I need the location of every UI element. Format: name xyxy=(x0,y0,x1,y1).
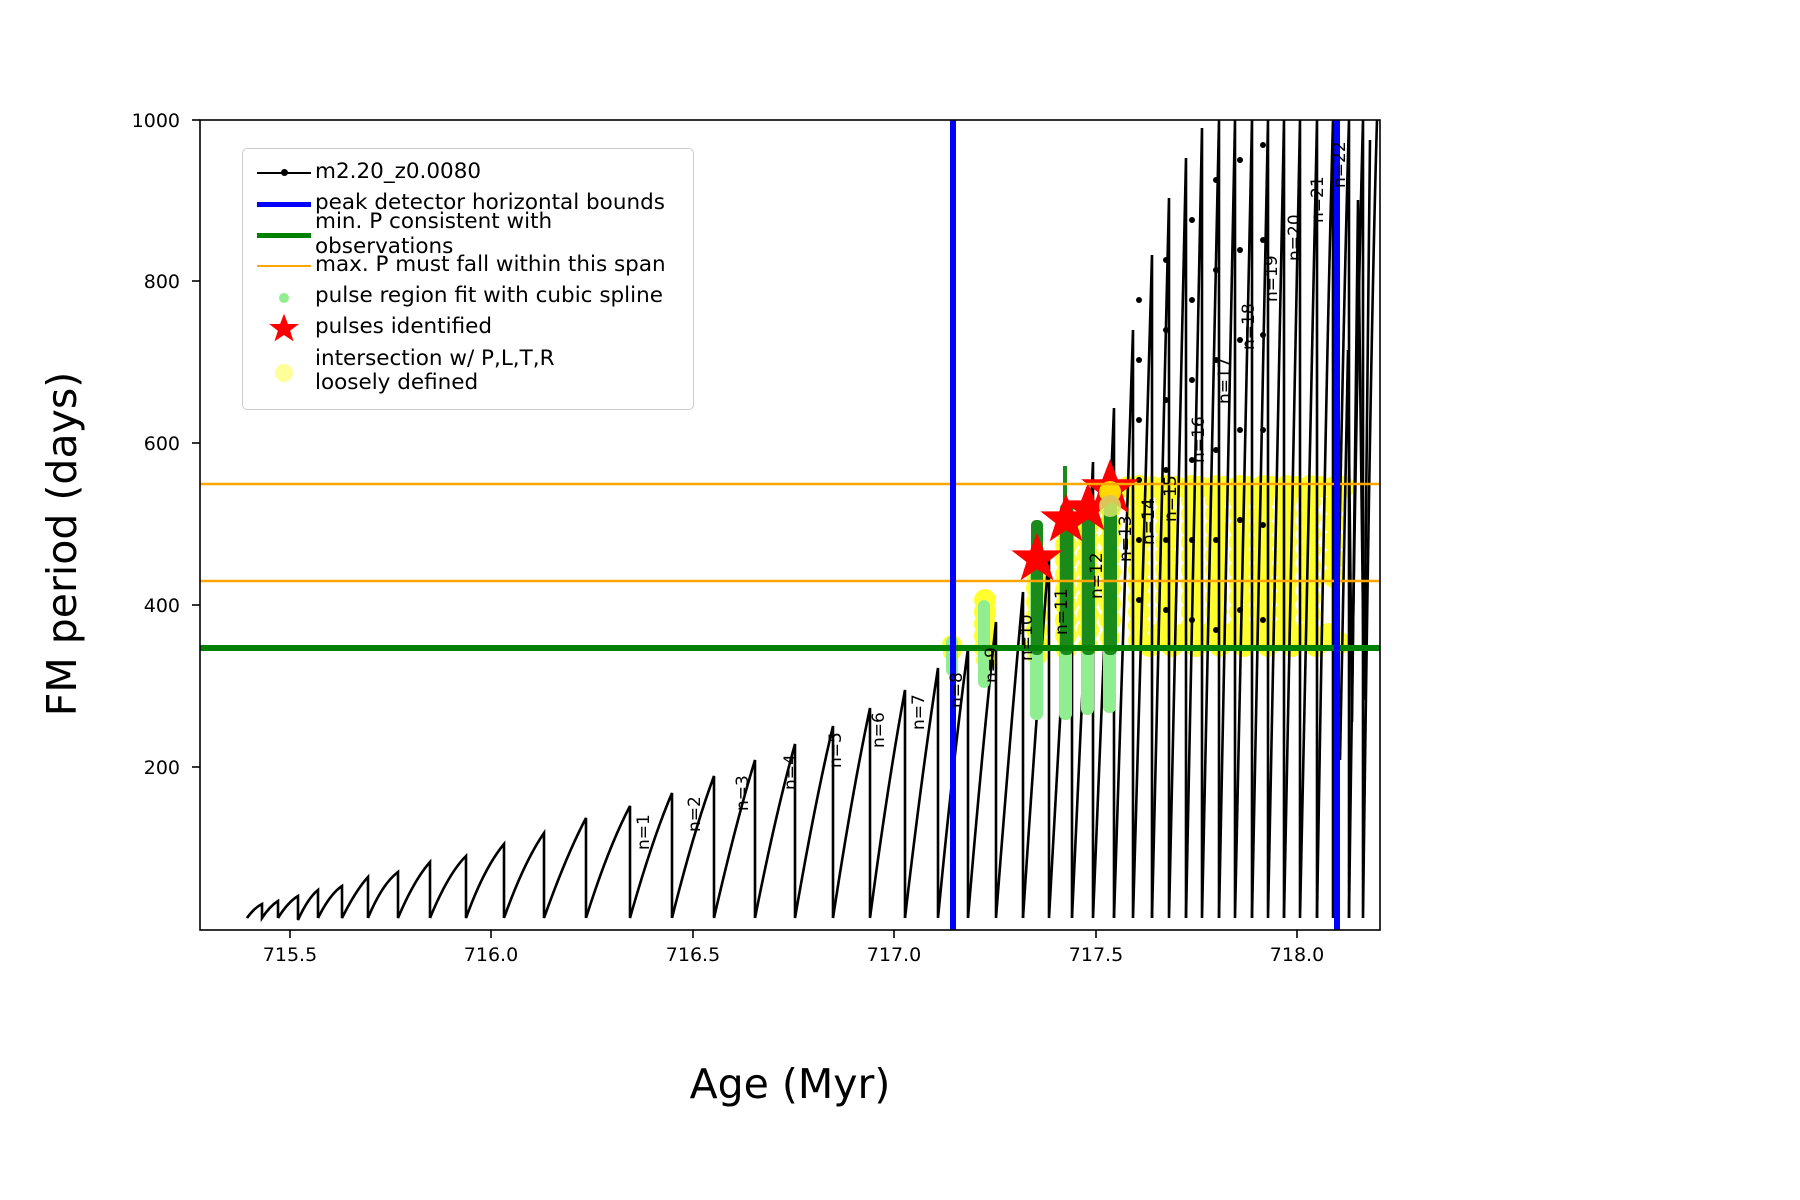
dot-lightgreen-icon xyxy=(253,282,315,312)
legend-label-min-period: min. P consistent with observations xyxy=(315,210,683,258)
y-axis-ticks xyxy=(192,120,200,767)
legend-entry-cubic-spline: pulse region fit with cubic spline xyxy=(253,281,683,312)
legend-label-pulses-identified: pulses identified xyxy=(315,315,492,339)
pulse-label-n1: n=1 xyxy=(634,814,654,850)
star-red-icon xyxy=(253,313,315,343)
legend-entry-intersection: intersection w/ P,L,T,R loosely defined xyxy=(253,343,683,399)
legend-entry-pulses-identified: pulses identified xyxy=(253,312,683,343)
star-intersection-overlay xyxy=(1099,481,1121,517)
legend-entry-max-period-span: max. P must fall within this span xyxy=(253,250,683,281)
y-tick-label-200: 200 xyxy=(60,757,180,779)
pulse-label-n17: n=17 xyxy=(1215,357,1235,404)
y-tick-label-1000: 1000 xyxy=(60,110,180,132)
pulse-label-n2: n=2 xyxy=(685,796,705,832)
x-axis-ticks xyxy=(290,930,1297,938)
pulse-label-n8: n=8 xyxy=(947,672,967,708)
legend-label-track: m2.20_z0.0080 xyxy=(315,160,481,184)
x-tick-label-717-0: 717.0 xyxy=(834,944,954,966)
pulse-label-n7: n=7 xyxy=(909,694,929,730)
pulse-label-n10: n=10 xyxy=(1017,614,1037,661)
y-axis-label: FM period (days) xyxy=(38,334,86,754)
y-tick-label-600: 600 xyxy=(60,433,180,455)
pulse-label-n21: n=21 xyxy=(1308,176,1328,223)
pulse-label-n4: n=4 xyxy=(781,754,801,790)
pulse-label-n9: n=9 xyxy=(982,647,1002,683)
pulse-label-n22: n=22 xyxy=(1330,141,1350,188)
x-tick-label-717-5: 717.5 xyxy=(1036,944,1156,966)
pulse-label-n15: n=15 xyxy=(1161,475,1181,522)
figure-canvas: FM period (days) Age (Myr) 1000 800 600 … xyxy=(0,0,1800,1200)
line-blue-icon xyxy=(253,189,315,219)
pulse-label-n13: n=13 xyxy=(1116,515,1136,562)
legend-entry-min-period: min. P consistent with observations xyxy=(253,219,683,250)
line-orange-icon xyxy=(253,251,315,281)
pulse-label-n19: n=19 xyxy=(1262,255,1282,302)
pulse-label-n18: n=18 xyxy=(1239,303,1259,350)
legend-label-cubic-spline: pulse region fit with cubic spline xyxy=(315,284,663,308)
pulse-label-n6: n=6 xyxy=(869,712,889,748)
legend-entry-track: m2.20_z0.0080 xyxy=(253,157,683,188)
line-green-icon xyxy=(253,220,315,250)
legend-label-max-period-span: max. P must fall within this span xyxy=(315,253,666,277)
pulse-label-n20: n=20 xyxy=(1285,214,1305,261)
y-tick-label-400: 400 xyxy=(60,595,180,617)
pulse-label-n5: n=5 xyxy=(826,732,846,768)
x-tick-label-716-5: 716.5 xyxy=(633,944,753,966)
x-tick-label-716-0: 716.0 xyxy=(431,944,551,966)
pulse-label-n3: n=3 xyxy=(733,775,753,811)
x-tick-label-715-5: 715.5 xyxy=(230,944,350,966)
pulse-label-n11: n=11 xyxy=(1052,588,1072,635)
pulse-label-n14: n=14 xyxy=(1139,498,1159,545)
x-axis-label: Age (Myr) xyxy=(500,1060,1080,1108)
pulse-label-n16: n=16 xyxy=(1189,416,1209,463)
line-dot-black-icon xyxy=(253,158,315,188)
legend-label-intersection: intersection w/ P,L,T,R loosely defined xyxy=(315,347,555,395)
y-tick-label-800: 800 xyxy=(60,271,180,293)
pulse-label-n12: n=12 xyxy=(1087,552,1107,599)
x-tick-label-718-0: 718.0 xyxy=(1237,944,1357,966)
circle-yellow-icon xyxy=(253,356,315,386)
legend: m2.20_z0.0080 peak detector horizontal b… xyxy=(242,148,694,410)
